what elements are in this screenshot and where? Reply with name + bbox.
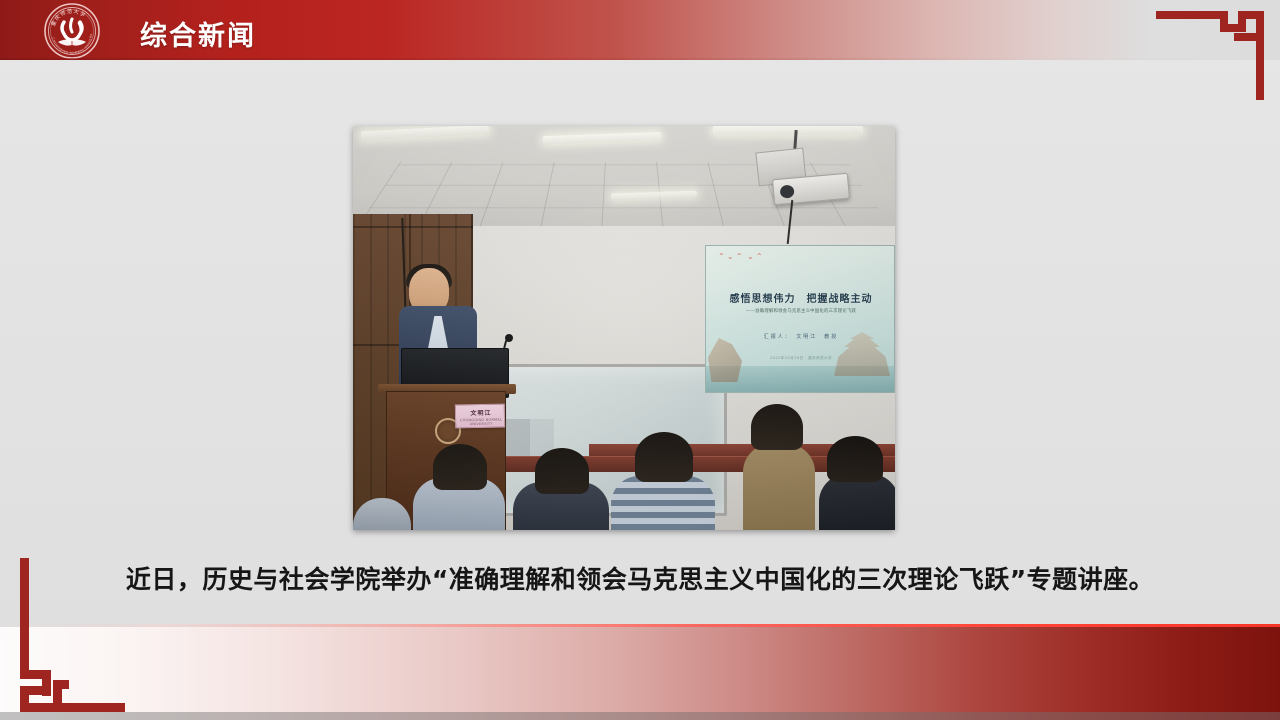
page-title: 综合新闻 <box>140 14 256 53</box>
ceiling-light-3 <box>713 126 863 135</box>
header-bar: 重庆师范大学 CHONGQING NORMAL UNIVERSITY 综合新闻 <box>0 0 1280 60</box>
slide-birds-graphic: ⌃ ⌄ ⌃ ⌄ ⌃ <box>718 252 782 278</box>
audience-head-1 <box>433 444 487 490</box>
lecture-photo: ⌃ ⌄ ⌃ ⌄ ⌃ 感悟思想伟力 把握战略主动 ——准确理解和领会马克思主义中国… <box>353 126 895 530</box>
audience-body-3 <box>611 476 715 530</box>
projection-screen: ⌃ ⌄ ⌃ ⌄ ⌃ 感悟思想伟力 把握战略主动 ——准确理解和领会马克思主义中国… <box>705 245 895 393</box>
nameplate-subtitle: CHONGQING NORMAL UNIVERSITY <box>456 418 506 427</box>
university-emblem-icon: 重庆师范大学 CHONGQING NORMAL UNIVERSITY <box>22 2 122 60</box>
audience-head-4 <box>751 404 803 450</box>
podium-nameplate: 文明江 CHONGQING NORMAL UNIVERSITY <box>455 404 505 429</box>
slide-date: 2022年10月26日 · 重庆师范大学 <box>706 356 895 361</box>
caption-text: 近日，历史与社会学院举办“准确理解和领会马克思主义中国化的三次理论飞跃”专题讲座… <box>0 560 1280 596</box>
slide-presenter: 汇报人： 文明江 教授 <box>706 333 895 340</box>
audience-head-5 <box>827 436 883 482</box>
audience-head-3 <box>635 432 693 482</box>
audience-head-2 <box>535 448 589 494</box>
nameplate-name: 文明江 <box>456 408 506 418</box>
slide-subtitle: ——准确理解和领会马克思主义中国化的三次理论飞跃 <box>706 308 895 314</box>
header-divider <box>0 58 1280 60</box>
projector-lens <box>780 185 795 199</box>
bottom-band-shadow <box>0 712 1280 720</box>
slide-title: 感悟思想伟力 把握战略主动 <box>706 290 895 305</box>
audience-body-5 <box>819 474 895 530</box>
news-slide: 重庆师范大学 CHONGQING NORMAL UNIVERSITY 综合新闻 <box>0 0 1280 720</box>
photo-content: ⌃ ⌄ ⌃ ⌄ ⌃ 感悟思想伟力 把握战略主动 ——准确理解和领会马克思主义中国… <box>353 126 895 530</box>
audience-body-4 <box>743 444 815 530</box>
wood-seam-1 <box>353 226 473 228</box>
microphone-head <box>505 334 513 342</box>
bottom-gradient-band <box>0 627 1280 720</box>
